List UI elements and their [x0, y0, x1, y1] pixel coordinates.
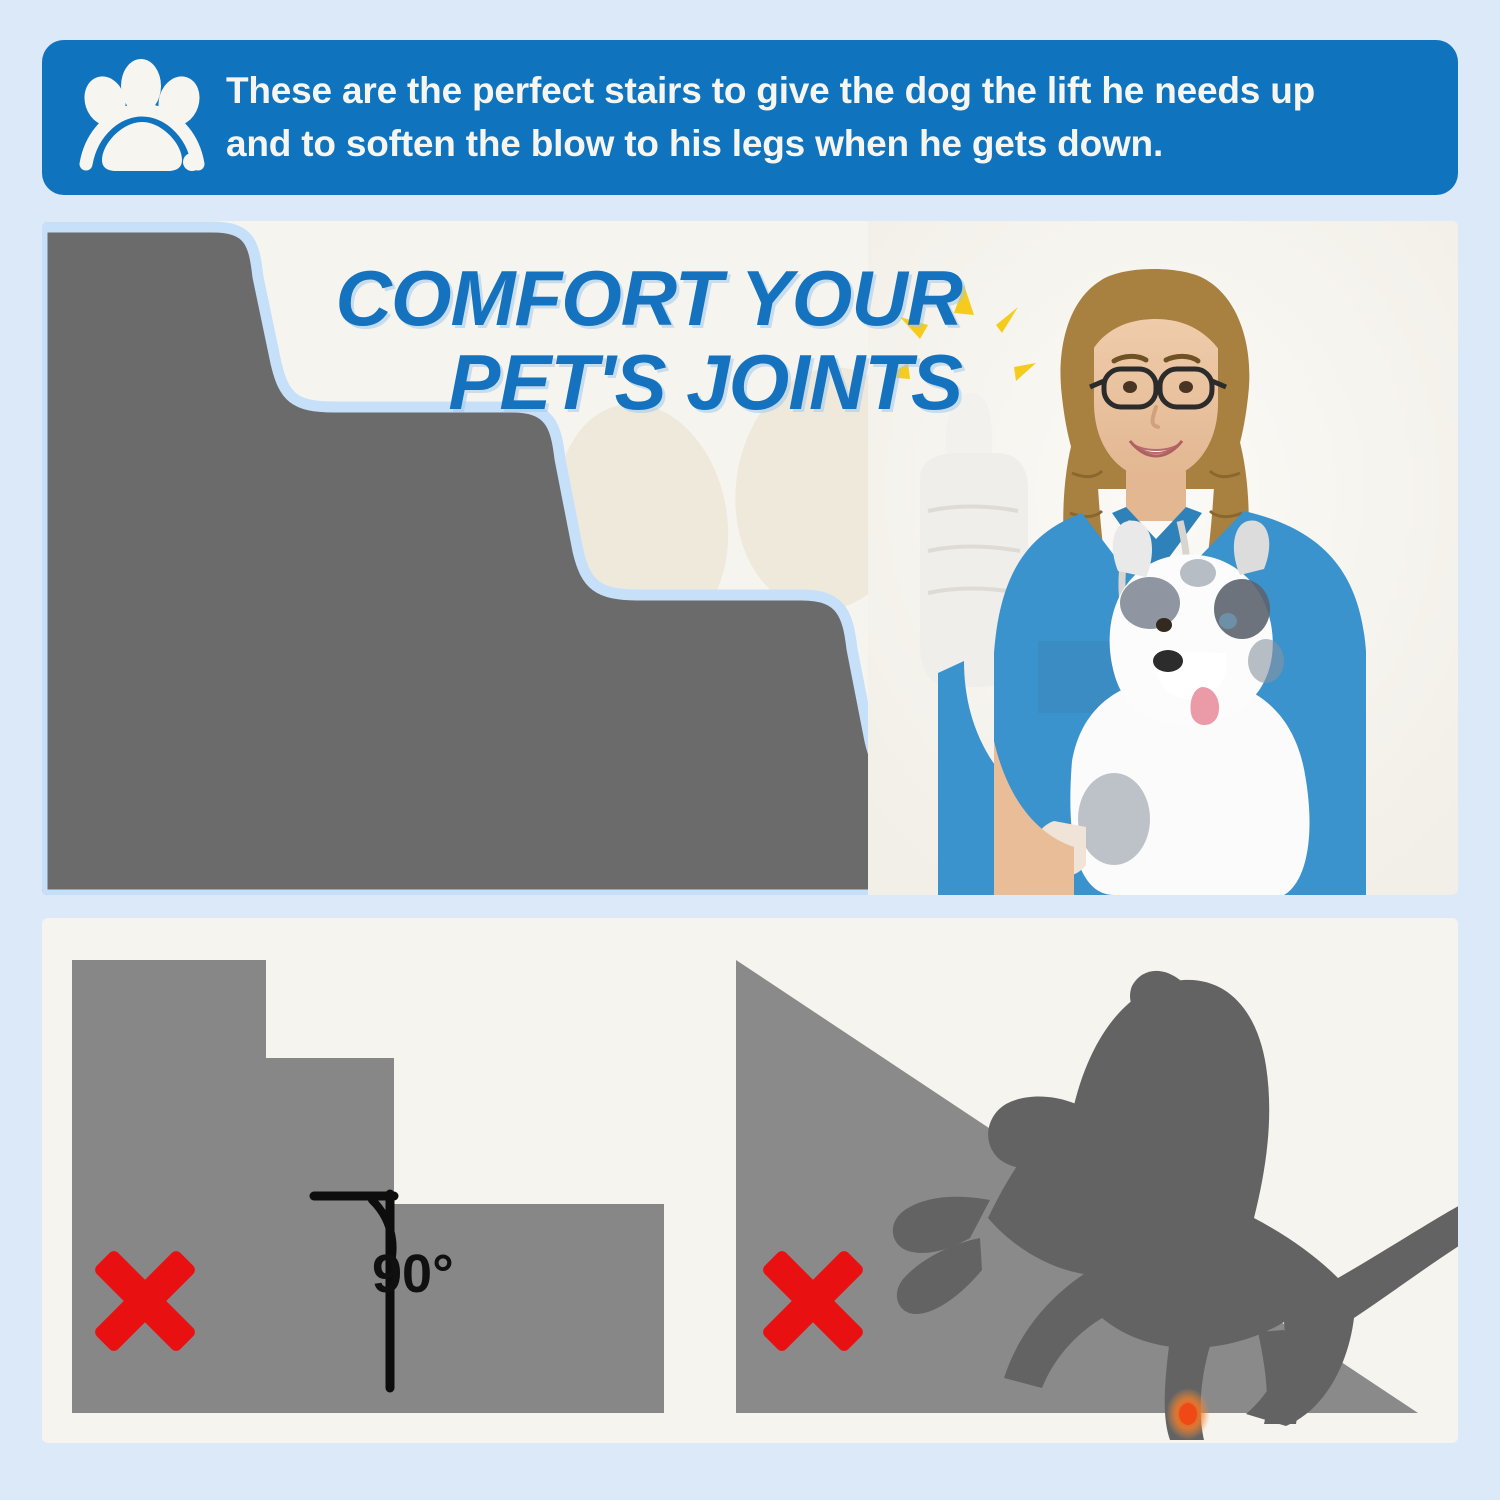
steep-ramp-cell [718, 918, 1458, 1443]
steep-stairs-cell: 90° [42, 918, 718, 1443]
page-title: COMFORT YOUR PET'S JOINTS [42, 256, 1042, 424]
infographic-page: These are the perfect stairs to give the… [0, 0, 1500, 1500]
paw-print-icon [78, 58, 208, 178]
comparison-panel: 90° [42, 918, 1458, 1443]
hero-panel: COMFORT YOUR PET'S JOINTS [42, 221, 1458, 895]
header-banner: These are the perfect stairs to give the… [42, 40, 1458, 195]
steep-ramp-diagram [718, 918, 1458, 1443]
banner-message: These are the perfect stairs to give the… [208, 65, 1432, 170]
angle-label: 90° [372, 1243, 454, 1305]
right-angle-steps-diagram [42, 918, 718, 1443]
